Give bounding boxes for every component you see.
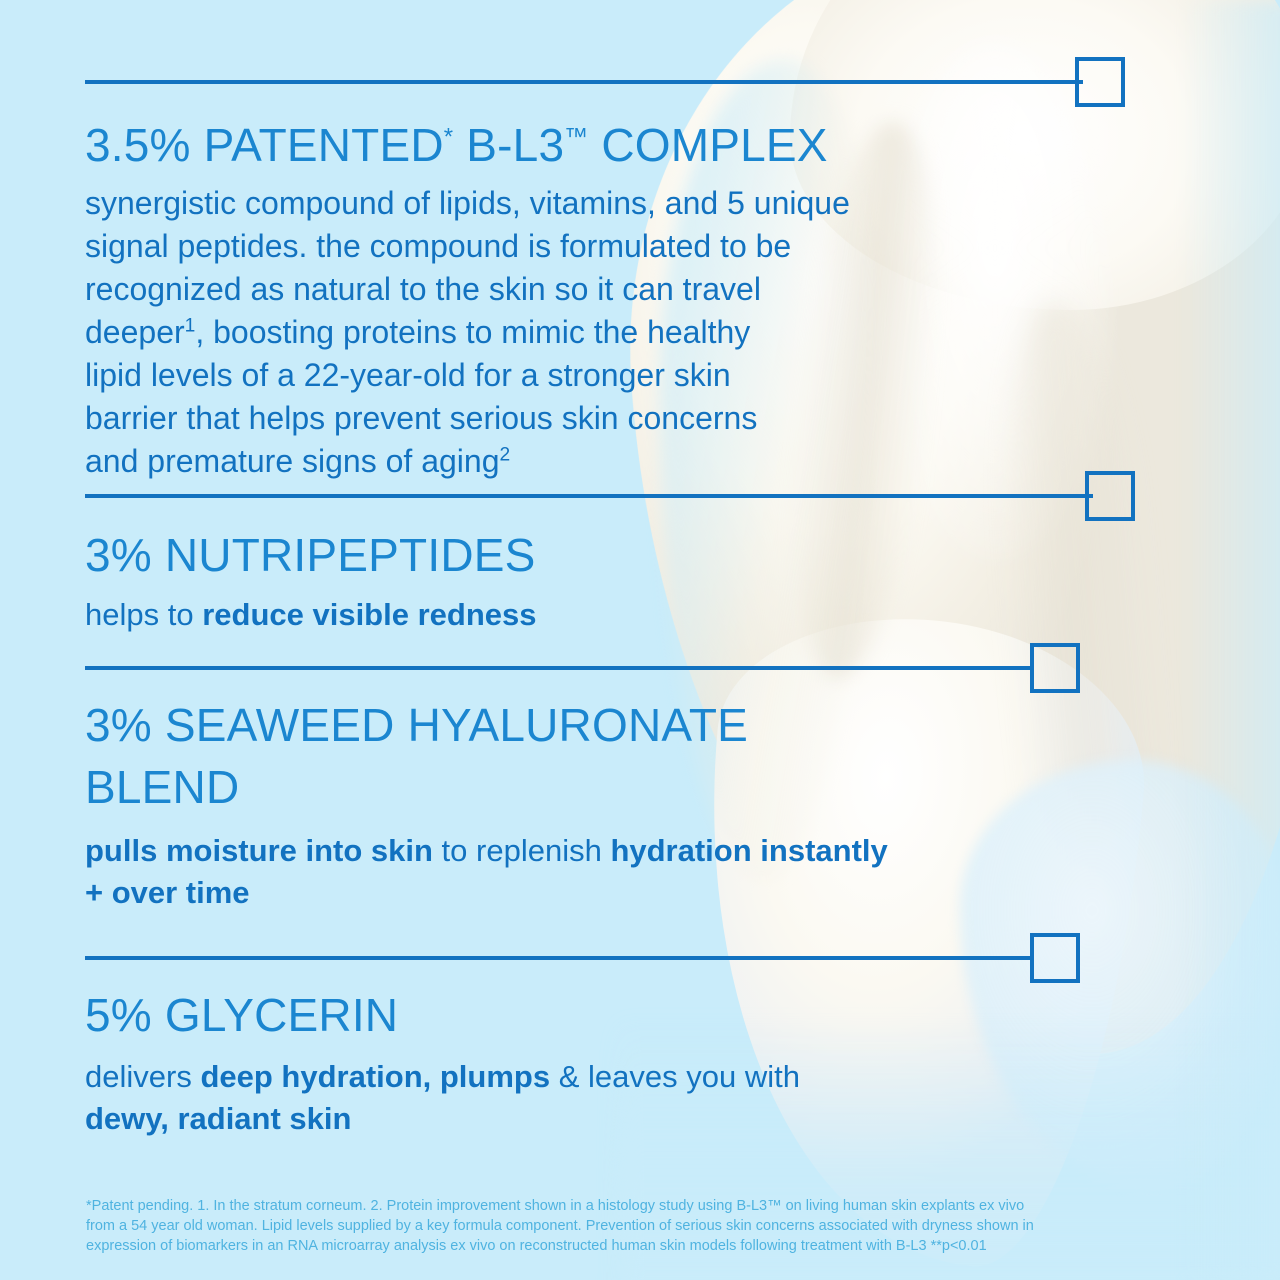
divider-row-4 — [85, 940, 1085, 976]
section-1-body: synergistic compound of lipids, vitamins… — [85, 182, 850, 483]
section-4-heading: 5% GLYCERIN — [85, 984, 875, 1046]
section-seaweed-hyaluronate-blend: 3% SEAWEED HYALURONATE BLEND pulls moist… — [85, 694, 895, 914]
heading-1-asterisk: * — [444, 124, 454, 151]
body-1-part-2: , boosting proteins to mimic the healthy… — [85, 314, 757, 479]
divider-square-2 — [1085, 471, 1135, 521]
section-2-description: helps to reduce visible redness — [85, 594, 536, 636]
section-glycerin: 5% GLYCERIN delivers deep hydration, plu… — [85, 984, 875, 1140]
divider-row-3 — [85, 650, 1085, 686]
heading-1-trademark: ™ — [564, 124, 588, 151]
divider-line-4 — [85, 956, 1033, 960]
heading-1-pre: 3.5% PATENTED — [85, 119, 444, 171]
desc-4-regular-2: & leaves you with — [550, 1059, 800, 1094]
desc-4-bold-2: dewy, radiant skin — [85, 1101, 351, 1136]
section-3-description: pulls moisture into skin to replenish hy… — [85, 830, 895, 914]
section-1-heading: 3.5% PATENTED* B-L3™ COMPLEX — [85, 114, 850, 176]
content-layer: 3.5% PATENTED* B-L3™ COMPLEX synergistic… — [0, 0, 1280, 1280]
heading-1-mid: B-L3 — [453, 119, 564, 171]
divider-square-1 — [1075, 57, 1125, 107]
section-b-l3-complex: 3.5% PATENTED* B-L3™ COMPLEX synergistic… — [85, 114, 850, 483]
section-3-heading: 3% SEAWEED HYALURONATE BLEND — [85, 694, 895, 818]
desc-3-bold-1: pulls moisture into skin — [85, 833, 433, 868]
divider-square-4 — [1030, 933, 1080, 983]
divider-line-1 — [85, 80, 1083, 84]
body-1-footnote-1: 1 — [185, 315, 196, 336]
section-4-description: delivers deep hydration, plumps & leaves… — [85, 1056, 875, 1140]
desc-3-regular-1: to replenish — [433, 833, 611, 868]
divider-square-3 — [1030, 643, 1080, 693]
divider-row-1 — [85, 64, 1135, 100]
footnote-disclaimer: *Patent pending. 1. In the stratum corne… — [86, 1196, 1196, 1256]
divider-line-2 — [85, 494, 1093, 498]
divider-row-2 — [85, 478, 1145, 514]
divider-line-3 — [85, 666, 1033, 670]
section-2-heading: 3% NUTRIPEPTIDES — [85, 524, 536, 586]
section-nutripeptides: 3% NUTRIPEPTIDES helps to reduce visible… — [85, 524, 536, 636]
desc-4-bold-1: deep hydration, plumps — [200, 1059, 550, 1094]
desc-4-regular-1: delivers — [85, 1059, 200, 1094]
body-1-footnote-2: 2 — [499, 444, 510, 465]
desc-2-regular-1: helps to — [85, 597, 202, 632]
heading-1-post: COMPLEX — [588, 119, 827, 171]
infographic-canvas: 3.5% PATENTED* B-L3™ COMPLEX synergistic… — [0, 0, 1280, 1280]
desc-2-bold-1: reduce visible redness — [202, 597, 536, 632]
